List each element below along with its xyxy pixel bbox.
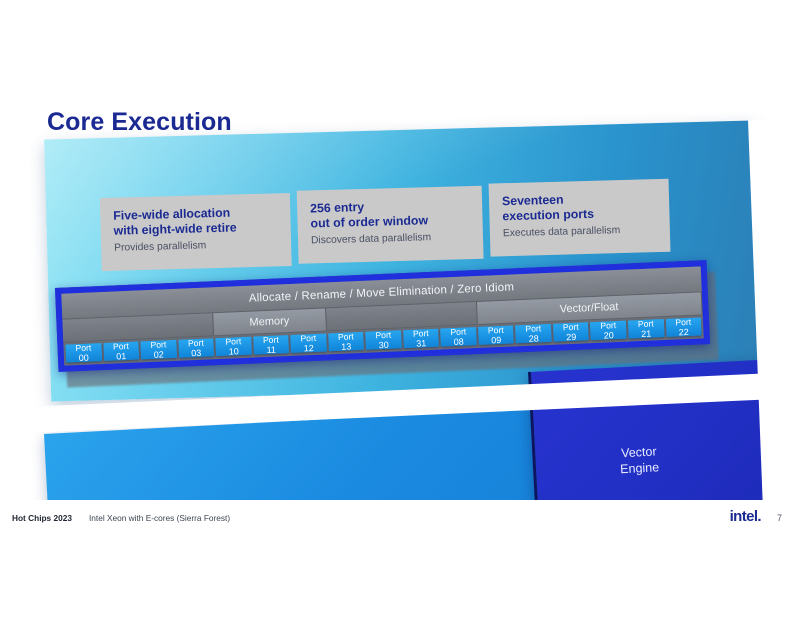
port-02[interactable]: Port02 bbox=[140, 340, 176, 360]
port-12[interactable]: Port12 bbox=[290, 333, 326, 353]
port-prefix: Port bbox=[450, 326, 466, 337]
port-prefix: Port bbox=[188, 338, 204, 349]
port-30[interactable]: Port30 bbox=[365, 330, 401, 350]
vector-engine-label: VectorEngine bbox=[619, 443, 660, 477]
port-number: 28 bbox=[529, 333, 539, 343]
callout-sub-2: Discovers data parallelism bbox=[311, 230, 470, 247]
vector-engine-label-2: Engine bbox=[620, 460, 660, 476]
callout-sub-3: Executes data parallelism bbox=[503, 223, 657, 240]
port-20[interactable]: Port20 bbox=[590, 321, 626, 341]
port-prefix: Port bbox=[75, 343, 91, 354]
port-prefix: Port bbox=[113, 341, 129, 352]
port-prefix: Port bbox=[338, 331, 354, 342]
port-prefix: Port bbox=[263, 334, 279, 345]
port-number: 03 bbox=[191, 348, 201, 358]
port-13[interactable]: Port13 bbox=[328, 332, 364, 352]
port-number: 10 bbox=[229, 346, 239, 356]
port-number: 20 bbox=[604, 330, 614, 340]
port-prefix: Port bbox=[638, 318, 654, 329]
slide-canvas: Core Execution Five-wide allocation with… bbox=[0, 0, 800, 618]
port-prefix: Port bbox=[300, 333, 316, 344]
callout-allocation: Five-wide allocation with eight-wide ret… bbox=[100, 193, 292, 271]
port-prefix: Port bbox=[675, 317, 691, 328]
port-prefix: Port bbox=[413, 328, 429, 339]
port-prefix: Port bbox=[225, 336, 241, 347]
port-number: 09 bbox=[491, 335, 501, 345]
callout-headline-1b: with eight-wide retire bbox=[114, 219, 278, 238]
footer-deck-title: Intel Xeon with E-cores (Sierra Forest) bbox=[89, 513, 230, 523]
port-10[interactable]: Port10 bbox=[215, 337, 251, 357]
vector-engine-label-1: Vector bbox=[621, 444, 657, 460]
port-11[interactable]: Port11 bbox=[253, 335, 289, 355]
callout-exec-ports: Seventeen execution ports Executes data … bbox=[489, 179, 671, 257]
port-21[interactable]: Port21 bbox=[628, 319, 664, 339]
port-number: 29 bbox=[566, 332, 576, 342]
port-22[interactable]: Port22 bbox=[665, 317, 701, 337]
callout-headline-2b: out of order window bbox=[310, 212, 469, 231]
port-28[interactable]: Port28 bbox=[515, 324, 551, 344]
port-number: 21 bbox=[641, 329, 651, 339]
page-number: 7 bbox=[777, 513, 782, 523]
port-prefix: Port bbox=[488, 325, 504, 336]
callout-headline-3b: execution ports bbox=[502, 205, 656, 224]
port-number: 13 bbox=[341, 341, 351, 351]
port-prefix: Port bbox=[375, 330, 391, 341]
port-number: 02 bbox=[154, 349, 164, 359]
port-number: 08 bbox=[454, 337, 464, 347]
callout-ooo-window: 256 entry out of order window Discovers … bbox=[297, 186, 484, 264]
slide-footer: Hot Chips 2023 Intel Xeon with E-cores (… bbox=[0, 500, 800, 618]
port-number: 31 bbox=[416, 338, 426, 348]
port-number: 22 bbox=[679, 327, 689, 337]
callout-sub-1: Provides parallelism bbox=[114, 237, 278, 254]
allocate-rename-label: Allocate / Rename / Move Elimination / Z… bbox=[249, 281, 515, 304]
port-01[interactable]: Port01 bbox=[103, 341, 139, 361]
port-29[interactable]: Port29 bbox=[553, 322, 589, 342]
port-09[interactable]: Port09 bbox=[478, 325, 514, 345]
port-number: 01 bbox=[116, 351, 126, 361]
port-number: 00 bbox=[79, 353, 89, 363]
port-number: 30 bbox=[379, 340, 389, 350]
port-number: 11 bbox=[266, 345, 276, 355]
intel-logo: intel. bbox=[730, 508, 761, 525]
port-03[interactable]: Port03 bbox=[178, 338, 214, 358]
port-prefix: Port bbox=[600, 320, 616, 331]
port-prefix: Port bbox=[525, 323, 541, 334]
port-31[interactable]: Port31 bbox=[403, 329, 439, 349]
port-00[interactable]: Port00 bbox=[65, 343, 101, 363]
port-08[interactable]: Port08 bbox=[440, 327, 476, 347]
port-prefix: Port bbox=[563, 322, 579, 333]
port-number: 12 bbox=[304, 343, 314, 353]
port-prefix: Port bbox=[150, 339, 166, 350]
footer-conference: Hot Chips 2023 bbox=[12, 513, 72, 523]
